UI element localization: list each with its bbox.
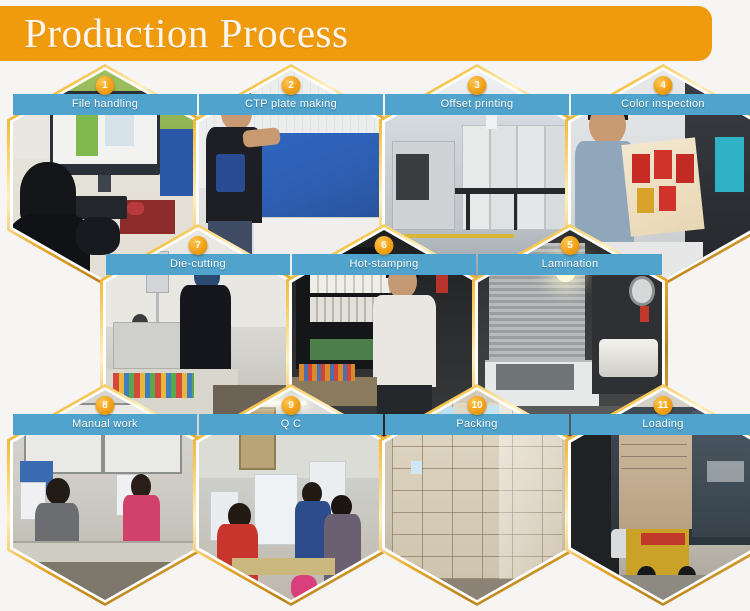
scene-part-r3 (676, 154, 694, 183)
step-number-badge: 6 (375, 236, 394, 255)
step-number-badge: 11 (654, 396, 673, 415)
scene-part-head (388, 264, 417, 300)
scene-part-head (589, 104, 626, 146)
scene-part-tbl (232, 558, 335, 575)
scene-part-tag2 (484, 405, 499, 422)
scene-part-bench (13, 541, 197, 562)
step-number-badge: 9 (282, 396, 301, 415)
scene-part-mouse (127, 202, 144, 215)
scene-part-tors (180, 285, 232, 373)
scene-part-lamp (555, 259, 575, 282)
scene-part-rail (455, 188, 565, 194)
scene-part-flr (385, 579, 569, 600)
scene-part-art1 (76, 102, 98, 157)
scene-part-pers (486, 99, 497, 128)
scene-part-col (299, 364, 354, 381)
scene-part-red (641, 533, 685, 546)
step-number-badge: 2 (282, 76, 301, 95)
scene-part-plate (262, 133, 383, 221)
process-step-9[interactable]: Q C9 (193, 384, 389, 606)
scene-part-r4 (637, 188, 654, 213)
scene-part-lgo (707, 461, 744, 482)
scene-part-tag3 (411, 461, 422, 474)
scene-part-gear (629, 276, 655, 305)
process-step-11[interactable]: Loading11 (565, 384, 750, 606)
scene-part-u3 (517, 125, 545, 230)
scene-part-grnd (571, 575, 750, 600)
step-number-badge: 7 (189, 236, 208, 255)
scene-part-red (640, 306, 649, 323)
scene-part-r2 (654, 150, 672, 179)
scene-part-bx1 (254, 474, 298, 545)
scene-part-shrt (373, 295, 436, 387)
scene-part-stand (98, 175, 111, 192)
scene-part-armx (242, 127, 280, 148)
scene-part-roll (599, 339, 658, 377)
scene-part-r5 (659, 186, 676, 211)
production-process-infographic: Production Process File handling1CTP pla… (0, 0, 750, 611)
scene-part-teal (715, 137, 744, 192)
scene-part-r1 (632, 154, 650, 183)
scene-part-cargo (619, 428, 693, 529)
process-step-10[interactable]: Packing10 (379, 384, 575, 606)
step-number-badge: 10 (468, 396, 487, 415)
scene-part-dark (396, 154, 429, 200)
step-number-badge: 5 (561, 236, 580, 255)
scene-part-red (436, 264, 449, 293)
scene-part-per1h (46, 478, 70, 505)
hexagon-grid: File handling1CTP plate making2Offset pr… (0, 0, 750, 611)
step-number-badge: 8 (96, 396, 115, 415)
scene-part-art2 (105, 108, 134, 146)
scene-part-cg2 (621, 432, 687, 433)
step-number-badge: 3 (468, 76, 487, 95)
step-number-badge: 4 (654, 76, 673, 95)
scene-part-logo (216, 154, 245, 192)
step-number-badge: 1 (96, 76, 115, 95)
process-step-8[interactable]: Manual work8 (7, 384, 203, 606)
